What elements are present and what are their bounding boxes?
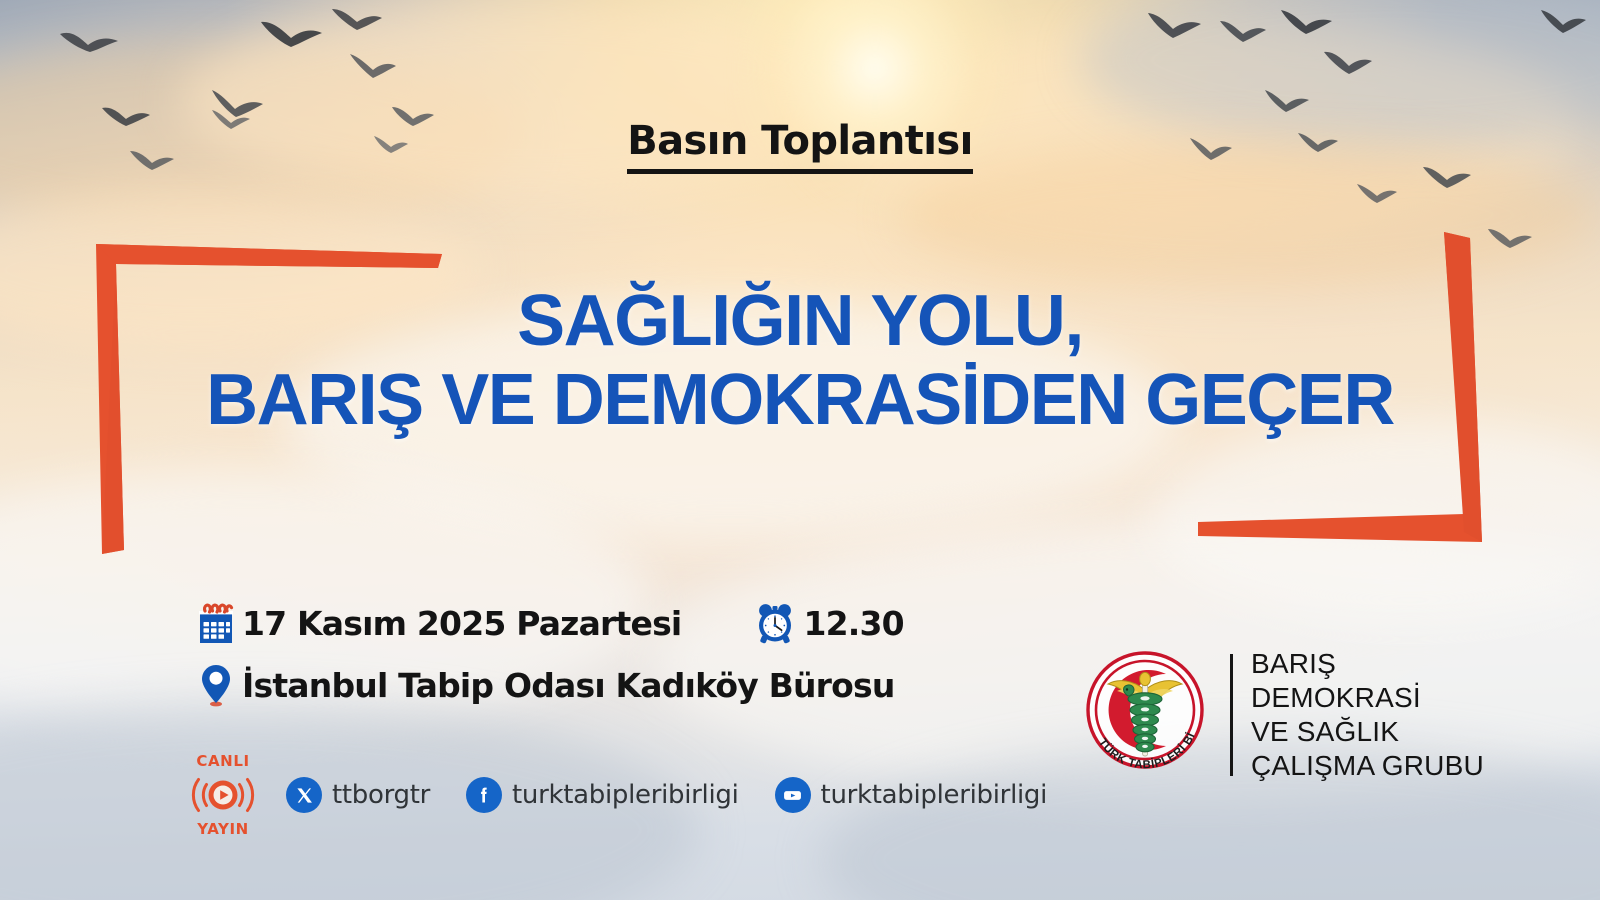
social-handle-x[interactable]: ttborgtr (332, 780, 430, 810)
group-line-2: DEMOKRASİ (1251, 681, 1484, 715)
bird-silhouette (330, 6, 384, 36)
kicker-label: Basın Toplantısı (627, 118, 972, 174)
location-pin-icon (190, 662, 242, 708)
event-date-time-row: 17 Kasım 2025 Pazartesi (190, 596, 904, 650)
page-kicker: Basın Toplantısı (0, 118, 1600, 174)
facebook-icon[interactable] (466, 777, 502, 813)
social-link-facebook[interactable]: turktabipleribirligi (466, 777, 739, 813)
headline-line-2: BARIŞ VE DEMOKRASİDEN GEÇER (0, 365, 1600, 436)
event-time-text: 12.30 (803, 604, 903, 643)
social-handle-youtube[interactable]: turktabipleribirligi (821, 780, 1048, 810)
event-date-text: 17 Kasım 2025 Pazartesi (242, 604, 681, 643)
bird-silhouette (1322, 48, 1374, 80)
social-handle-facebook[interactable]: turktabipleribirligi (512, 780, 739, 810)
alarm-clock-icon (747, 600, 803, 646)
group-line-4: ÇALIŞMA GRUBU (1251, 749, 1484, 783)
page-title: SAĞLIĞIN YOLU, BARIŞ VE DEMOKRASİDEN GEÇ… (0, 286, 1600, 435)
social-link-youtube[interactable]: turktabipleribirligi (775, 777, 1048, 813)
group-line-3: VE SAĞLIK (1251, 715, 1484, 749)
x-twitter-icon[interactable] (286, 777, 322, 813)
social-link-x[interactable]: ttborgtr (286, 777, 430, 813)
bird-silhouette (1538, 8, 1588, 38)
event-details: 17 Kasım 2025 Pazartesi (190, 596, 904, 712)
live-bottom-label: YAYIN (186, 820, 260, 838)
bird-silhouette (1145, 10, 1203, 44)
working-group-name: BARIŞ DEMOKRASİ VE SAĞLIK ÇALIŞMA GRUBU (1251, 647, 1484, 784)
bird-silhouette (58, 28, 120, 62)
calendar-icon (190, 600, 242, 646)
youtube-icon[interactable] (775, 777, 811, 813)
live-broadcast-icon (186, 770, 260, 820)
poster-canvas: Basın Toplantısı SAĞLIĞIN YOLU, BARIŞ VE… (0, 0, 1600, 900)
lockup-divider (1230, 654, 1233, 776)
bird-silhouette (1278, 8, 1334, 40)
ttb-emblem-icon: TÜRK TABİPLERİ BİRLİĞİ (1070, 640, 1220, 790)
headline-line-1: SAĞLIĞIN YOLU, (0, 286, 1600, 357)
bird-silhouette (1218, 18, 1268, 48)
event-venue-row: İstanbul Tabip Odası Kadıköy Bürosu (190, 658, 904, 712)
bird-silhouette (258, 18, 324, 56)
bird-silhouette (348, 52, 398, 82)
bird-silhouette (1355, 182, 1399, 208)
live-broadcast-badge: CANLI YAYIN (186, 752, 260, 838)
live-top-label: CANLI (186, 752, 260, 770)
organisation-lockup: TÜRK TABİPLERİ BİRLİĞİ BARIŞ DEMOKRASİ V… (1070, 640, 1484, 790)
bird-silhouette (1263, 88, 1311, 118)
social-links-row: CANLI YAYIN (186, 752, 1047, 838)
group-line-1: BARIŞ (1251, 647, 1484, 681)
event-venue-text: İstanbul Tabip Odası Kadıköy Bürosu (242, 666, 895, 705)
